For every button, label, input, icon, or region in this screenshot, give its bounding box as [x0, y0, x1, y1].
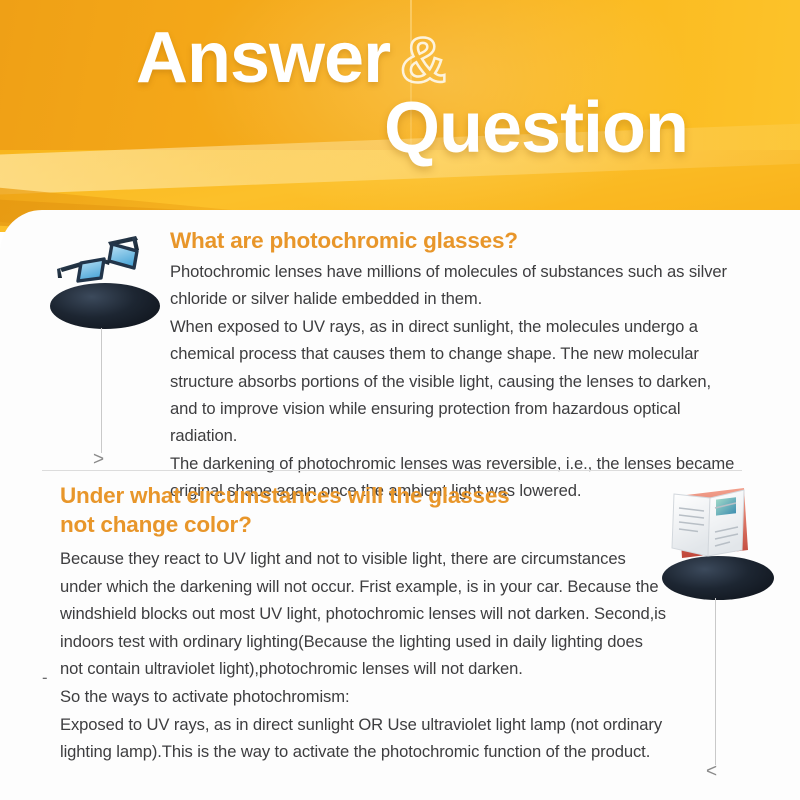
section-1-heading: What are photochromic glasses?	[170, 228, 518, 254]
chevron-left-icon: <	[706, 762, 717, 781]
book-icon	[648, 484, 794, 604]
glasses-icon	[44, 228, 172, 338]
section-divider	[42, 470, 742, 471]
banner-title-answer: Answer&	[136, 22, 445, 94]
section-2-heading: Under what circumstances will the glasse…	[60, 481, 660, 539]
banner-title-answer-word: Answer	[136, 18, 390, 98]
section-1-icon-group: >	[44, 228, 172, 478]
ampersand-glyph: &	[400, 24, 445, 96]
stray-dash-marker: -	[42, 670, 48, 687]
pointer-stem	[715, 598, 716, 765]
section-1-body: Photochromic lenses have millions of mol…	[170, 258, 736, 505]
banner-title-question: Question	[384, 92, 688, 164]
section-2-body: Because they react to UV light and not t…	[60, 545, 670, 766]
pointer-stem	[101, 328, 102, 453]
chevron-right-icon: >	[93, 450, 104, 469]
section-2-icon-group: <	[648, 484, 794, 790]
answer-question-infographic: Answer& Question What are photochromic g…	[0, 0, 800, 800]
